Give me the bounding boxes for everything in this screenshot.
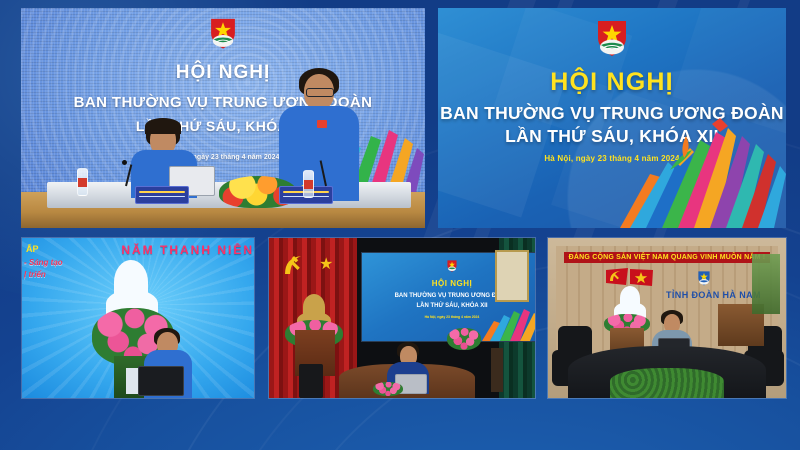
- banner-decoration-graphic: [616, 118, 786, 228]
- youth-union-emblem-icon: [206, 16, 240, 54]
- flower-arrangement: [447, 328, 481, 350]
- red-banner-text: ĐẢNG CỘNG SẢN VIỆT NAM QUANG VINH MUÔN N…: [564, 252, 770, 263]
- tile-yellow-text: ẤP: [26, 244, 39, 254]
- youth-union-emblem-icon: [592, 18, 632, 62]
- laptop: [138, 366, 184, 396]
- microphone-head: [122, 160, 127, 165]
- wall-plaque: [495, 250, 529, 302]
- video-tile-ha-nam[interactable]: ĐẢNG CỘNG SẢN VIỆT NAM QUANG VINH MUÔN N…: [547, 237, 787, 399]
- hammer-sickle-icon: [281, 252, 307, 278]
- video-backdrop-title: HỘI NGHỊ: [21, 62, 425, 84]
- conference-banner: HỘI NGHỊ BAN THƯỜNG VỤ TRUNG ƯƠNG ĐOÀN L…: [438, 8, 786, 228]
- flower-arrangement: [373, 382, 403, 396]
- party-and-national-flags-icon: [606, 268, 654, 286]
- tile-red-text-1: - Sáng tạo: [24, 258, 63, 267]
- flag-pin: [317, 120, 327, 128]
- red-slogan-banner: ĐẢNG CỘNG SẢN VIỆT NAM QUANG VINH MUÔN N…: [564, 252, 770, 263]
- nameplate: [135, 186, 189, 204]
- gold-star-icon: ★: [319, 254, 333, 274]
- youth-union-emblem-icon: [446, 259, 459, 274]
- tile-red-text-2: Ị triển: [24, 270, 46, 279]
- side-podium: [491, 348, 503, 392]
- banner-title: HỘI NGHỊ: [438, 68, 786, 97]
- main-conference-video[interactable]: HỘI NGHỊ BAN THƯỜNG VỤ TRUNG ƯƠNG ĐOÀN L…: [21, 8, 425, 228]
- eyeglasses: [306, 88, 334, 97]
- tile-banner-text: NĂM THANH NIÊN: [121, 243, 254, 257]
- water-bottle: [303, 170, 314, 198]
- potted-plant: [752, 254, 780, 314]
- water-bottle: [77, 168, 88, 196]
- youth-union-emblem-icon: [696, 270, 712, 288]
- paper-stack: [126, 368, 138, 394]
- video-tile-hall-bust[interactable]: ẤP - Sáng tạo Ị triển NĂM THANH NIÊN: [21, 237, 255, 399]
- video-tile-conference-room[interactable]: ★ HỘI NGHỊ BAN THƯỜNG VỤ TRUNG ƯƠNG ĐOÀN…: [268, 237, 536, 399]
- video-backdrop-line1: BAN THƯỜNG VỤ TRUNG ƯƠNG ĐOÀN: [21, 94, 425, 111]
- screen-decoration-graphic: [480, 307, 536, 341]
- table-greenery: [610, 368, 724, 398]
- organization-label: TỈNH ĐOÀN HÀ NAM: [666, 290, 761, 300]
- loudspeaker: [299, 364, 323, 398]
- screenshot-stage: HỘI NGHỊ BAN THƯỜNG VỤ TRUNG ƯƠNG ĐOÀN L…: [0, 0, 800, 450]
